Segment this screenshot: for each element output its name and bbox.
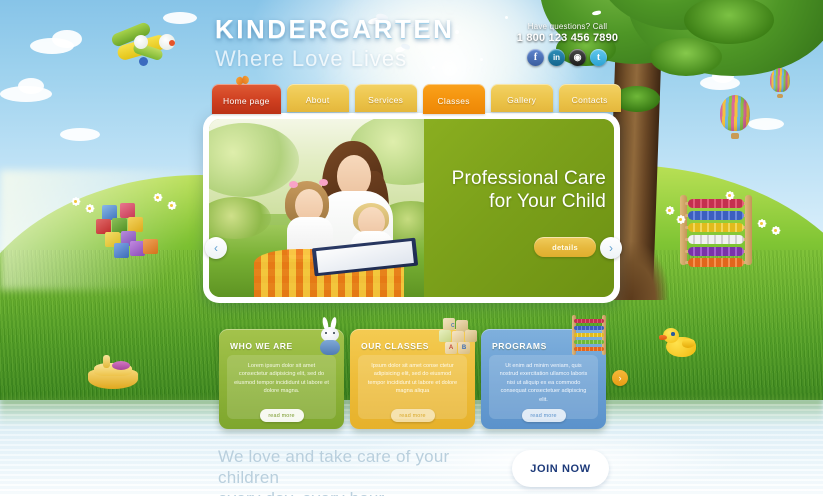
slide-title: Professional Care for Your Child [424,167,606,213]
cta-line-2: every day, every hour. [218,488,508,496]
card-our-classes[interactable]: OUR CLASSES Ipsum dolor sit amet conse c… [350,329,475,429]
daisy-flower-icon [724,190,735,201]
nav-item-contacts[interactable]: Contacts [559,84,621,112]
cloud-icon [60,128,100,141]
reddit-icon[interactable]: ◉ [569,49,586,66]
linkedin-icon[interactable]: in [548,49,565,66]
toy-block [120,203,135,218]
daisy-flower-icon [756,218,767,229]
nav-item-gallery[interactable]: Gallery [491,84,553,112]
rubber-duck-decoration [662,325,700,359]
feature-cards: WHO WE ARE Lorem ipsum dolor sit amet co… [219,329,606,429]
card-read-more-button[interactable]: read more [260,409,304,422]
card-who-we-are[interactable]: WHO WE ARE Lorem ipsum dolor sit amet co… [219,329,344,429]
card-programs[interactable]: PROGRAMS Ut enim ad minim veniam, quis n… [481,329,606,429]
slide-photo [209,119,424,297]
toy-boat-decoration [88,355,140,393]
abacus-bead-row [688,199,744,208]
abacus-bead-row [688,235,744,244]
page-root: KINDERGARTEN Where Love Lives Have quest… [0,0,823,496]
hero-slider: Professional Care for Your Child details [203,113,620,303]
abacus-decoration [680,195,752,267]
site-logo[interactable]: KINDERGARTEN Where Love Lives [215,14,454,72]
facebook-icon[interactable]: f [527,49,544,66]
join-now-button[interactable]: JOIN NOW [512,450,609,487]
contact-block: Have questions? Call 1 800 123 456 7890 [505,22,630,44]
call-to-action-text: We love and take care of your children e… [218,446,508,496]
slide-title-line-2: for Your Child [424,190,606,213]
twitter-icon[interactable]: t [590,49,607,66]
slide-text-panel: Professional Care for Your Child details [424,119,614,297]
cards-next-button[interactable]: › [612,370,628,386]
abacus-icon [570,315,608,357]
cta-line-1: We love and take care of your children [218,446,508,488]
contact-phone[interactable]: 1 800 123 456 7890 [505,32,630,44]
logo-tagline: Where Love Lives [215,46,454,72]
toy-blocks-decoration [88,205,154,257]
main-navigation: Home page About Services Classes Gallery… [212,84,621,114]
card-read-more-button[interactable]: read more [522,409,566,422]
butterfly-icon [236,75,250,87]
daisy-flower-icon [770,225,781,236]
daisy-flower-icon [70,196,81,207]
social-links: f in ◉ t [527,49,607,66]
slide-details-button[interactable]: details [534,237,596,257]
toy-block [114,243,129,258]
bunny-icon [310,317,350,357]
nav-item-services[interactable]: Services [355,84,417,112]
contact-label: Have questions? Call [505,22,630,31]
hair-bow-icon [319,179,328,186]
nav-item-classes[interactable]: Classes [423,84,485,114]
daisy-flower-icon [152,192,163,203]
nav-item-home-page[interactable]: Home page [212,84,281,114]
card-read-more-button[interactable]: read more [391,409,435,422]
slider-prev-button[interactable]: ‹ [205,237,227,259]
toy-block [143,239,158,254]
abc-blocks-icon: A B C [437,318,479,358]
nav-item-about[interactable]: About [287,84,349,112]
daisy-flower-icon [84,203,95,214]
abacus-bead-row [688,258,744,267]
daisy-flower-icon [664,205,675,216]
abacus-bead-row [688,211,744,220]
abacus-bead-row [688,247,744,256]
daisy-flower-icon [675,214,686,225]
slider-inner: Professional Care for Your Child details [209,119,614,297]
daisy-flower-icon [166,200,177,211]
abacus-bead-row [688,223,744,232]
slide-title-line-1: Professional Care [424,167,606,190]
hair-bow-icon [289,181,298,188]
logo-title: KINDERGARTEN [215,14,454,45]
slider-next-button[interactable]: › [600,237,622,259]
toy-block [128,217,143,232]
